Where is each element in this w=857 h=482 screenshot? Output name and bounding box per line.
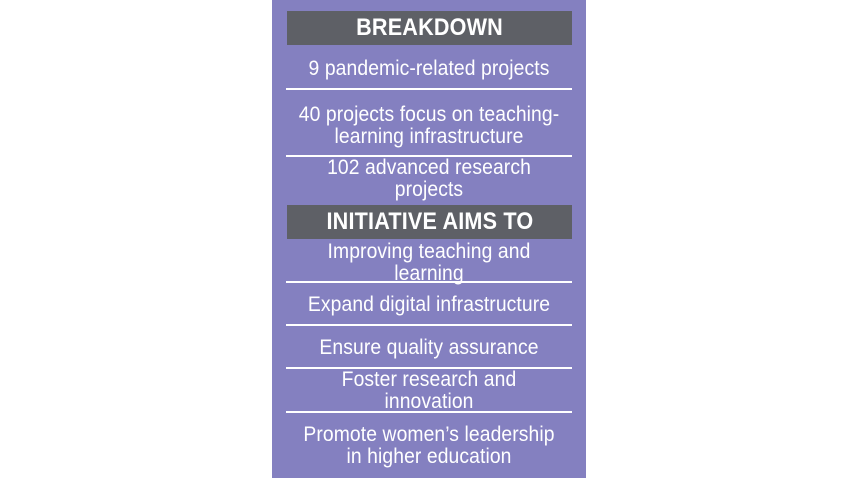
section-header-initiative-aims-to: INITIATIVE AIMS TO: [287, 205, 572, 239]
row-divider: [286, 281, 572, 283]
list-item-label: Foster research and innovation: [295, 369, 564, 414]
list-item-label: Promote women’s leadership in higher edu…: [295, 424, 564, 469]
list-item-label: 9 pandemic-related projects: [295, 58, 564, 80]
list-item-label: Expand digital infrastructure: [295, 294, 564, 316]
list-item: Ensure quality assurance: [283, 334, 575, 362]
row-divider: [286, 411, 572, 413]
section-header-breakdown: BREAKDOWN: [287, 11, 572, 45]
list-item-label: 40 projects focus on teaching-learning i…: [295, 104, 564, 149]
infographic-canvas: BREAKDOWN 9 pandemic-related projects 40…: [0, 0, 857, 482]
list-item: Expand digital infrastructure: [283, 291, 575, 319]
list-item: 102 advanced research projects: [283, 165, 575, 193]
section-header-breakdown-label: BREAKDOWN: [356, 16, 503, 40]
row-divider: [286, 324, 572, 326]
list-item-label: 102 advanced research projects: [295, 157, 564, 202]
list-item: 40 projects focus on teaching-learning i…: [283, 100, 575, 152]
list-item: Foster research and innovation: [283, 377, 575, 405]
breakdown-infographic-panel: BREAKDOWN 9 pandemic-related projects 40…: [272, 0, 586, 478]
list-item: Improving teaching and learning: [283, 249, 575, 277]
list-item-label: Improving teaching and learning: [295, 241, 564, 286]
list-item: Promote women’s leadership in higher edu…: [283, 420, 575, 472]
list-item: 9 pandemic-related projects: [283, 55, 575, 83]
section-header-initiative-aims-to-label: INITIATIVE AIMS TO: [326, 210, 533, 234]
list-item-label: Ensure quality assurance: [295, 337, 564, 359]
row-divider: [286, 88, 572, 90]
